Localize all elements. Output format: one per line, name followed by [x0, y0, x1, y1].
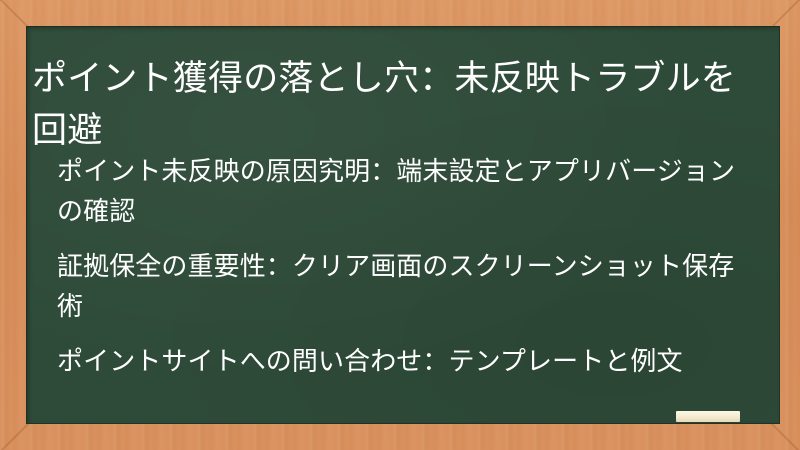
chalkboard-surface: ポイント獲得の落とし穴：未反映トラブルを回避 ポイント未反映の原因究明：端末設定…: [26, 26, 780, 424]
blackboard-frame: ポイント獲得の落とし穴：未反映トラブルを回避 ポイント未反映の原因究明：端末設定…: [0, 0, 800, 450]
list-item: ポイントサイトへの問い合わせ：テンプレートと例文: [57, 341, 757, 381]
board-title: ポイント獲得の落とし穴：未反映トラブルを回避: [32, 53, 754, 157]
list-item: ポイント未反映の原因究明：端末設定とアプリバージョンの確認: [57, 151, 757, 231]
chalk-stick: [676, 411, 740, 422]
list-item: 証拠保全の重要性：クリア画面のスクリーンショット保存術: [57, 246, 757, 326]
headings-list: ポイント未反映の原因究明：端末設定とアプリバージョンの確認 証拠保全の重要性：ク…: [57, 151, 757, 381]
